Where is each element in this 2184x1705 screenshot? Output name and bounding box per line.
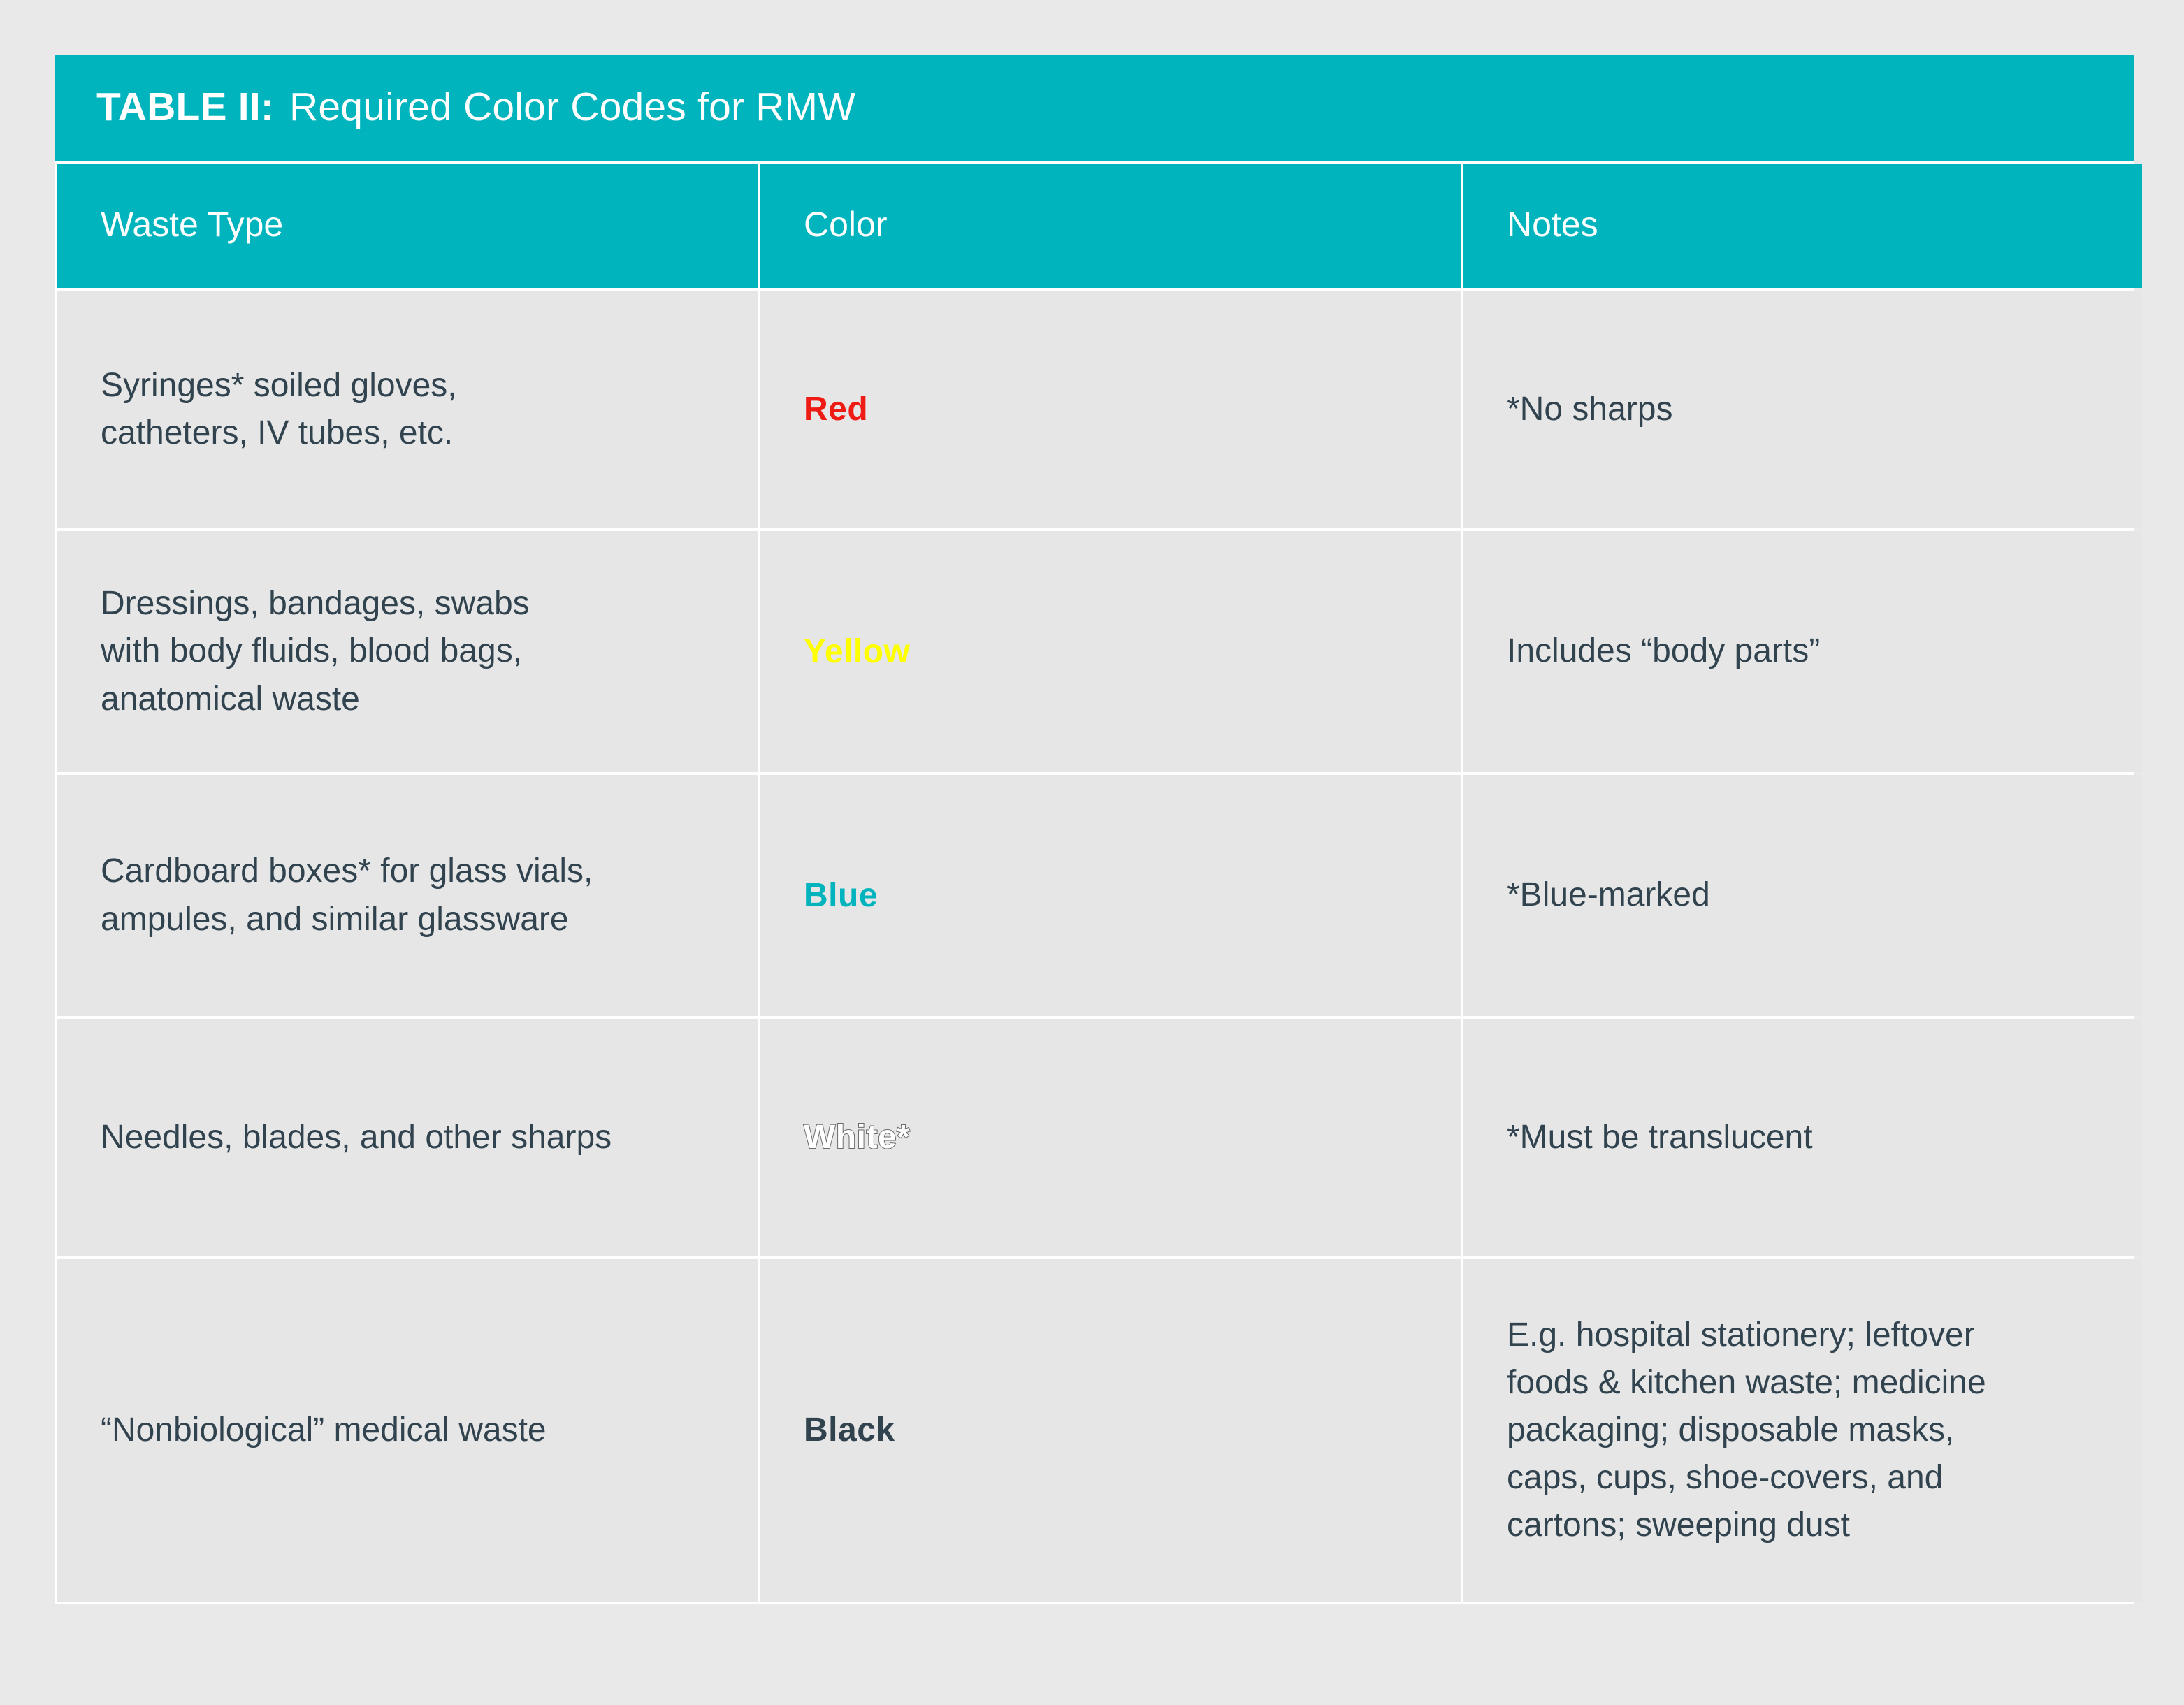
table-row: Needles, blades, and other sharps	[57, 1019, 758, 1256]
table-row: Cardboard boxes* for glass vials, ampule…	[57, 775, 758, 1016]
notes-value: E.g. hospital stationery; leftover foods…	[1507, 1312, 1986, 1550]
column-header-waste-type: Waste Type	[57, 164, 758, 288]
column-header-color: Color	[760, 164, 1461, 288]
notes-value: Includes “body parts”	[1507, 627, 1820, 675]
notes-value: *Blue-marked	[1507, 871, 1710, 919]
table-title-bar: TABLE II:Required Color Codes for RMW	[55, 55, 2134, 161]
waste-type-value: Dressings, bandages, swabs with body flu…	[101, 580, 530, 723]
table-row: *No sharps	[1463, 291, 2142, 528]
table-row: Black	[760, 1259, 1461, 1602]
table-row: Red	[760, 291, 1461, 528]
color-swatch-label: Blue	[804, 876, 878, 916]
column-header-notes-label: Notes	[1507, 205, 1598, 244]
color-codes-table: TABLE II:Required Color Codes for RMW Wa…	[55, 55, 2134, 1604]
table-title-text: Required Color Codes for RMW	[289, 85, 855, 129]
color-swatch-label: Yellow	[804, 632, 910, 672]
page-canvas: TABLE II:Required Color Codes for RMW Wa…	[0, 0, 2184, 1705]
color-swatch-label: White*	[804, 1117, 910, 1158]
notes-value: *Must be translucent	[1507, 1114, 1813, 1161]
color-swatch-label: Black	[804, 1410, 895, 1451]
table-row: Includes “body parts”	[1463, 531, 2142, 772]
table-row: White*	[760, 1019, 1461, 1256]
table-row: Yellow	[760, 531, 1461, 772]
waste-type-value: “Nonbiological” medical waste	[101, 1407, 547, 1454]
table-row: Dressings, bandages, swabs with body flu…	[57, 531, 758, 772]
table-row: Blue	[760, 775, 1461, 1016]
table-row: *Must be translucent	[1463, 1019, 2142, 1256]
color-swatch-label: Red	[804, 389, 868, 430]
table-number-label: TABLE II:	[96, 85, 274, 129]
table-row: Syringes* soiled gloves, catheters, IV t…	[57, 291, 758, 528]
column-header-color-label: Color	[804, 205, 887, 244]
waste-type-value: Syringes* soiled gloves, catheters, IV t…	[101, 362, 457, 457]
waste-type-value: Needles, blades, and other sharps	[101, 1114, 612, 1161]
waste-type-value: Cardboard boxes* for glass vials, ampule…	[101, 848, 593, 943]
table-row: *Blue-marked	[1463, 775, 2142, 1016]
table-row: “Nonbiological” medical waste	[57, 1259, 758, 1602]
table-row: E.g. hospital stationery; leftover foods…	[1463, 1259, 2142, 1602]
column-header-notes: Notes	[1463, 164, 2142, 288]
notes-value: *No sharps	[1507, 386, 1672, 433]
table-grid: Waste Type Color Notes Syringes* soiled …	[55, 161, 2134, 1604]
column-header-waste-type-label: Waste Type	[101, 205, 283, 244]
